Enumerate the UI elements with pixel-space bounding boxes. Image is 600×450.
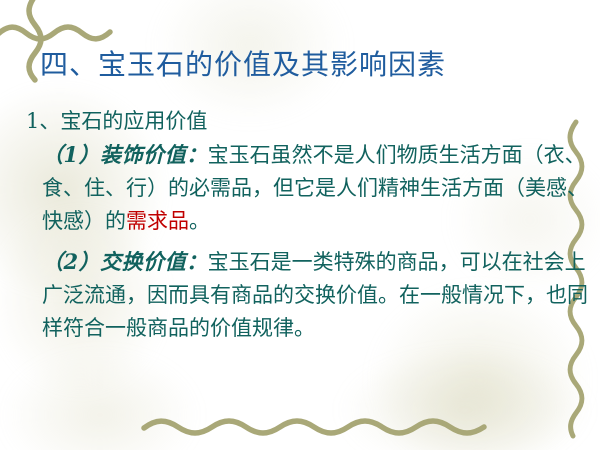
- bullet-1-text-tail: 。: [189, 209, 210, 233]
- slide-canvas: 四、宝玉石的价值及其影响因素 1、宝石的应用价值 （1）装饰价值：宝玉石虽然不是…: [0, 0, 600, 450]
- background-wash-bottom-right: [300, 330, 600, 450]
- slide-body: 1、宝石的应用价值 （1）装饰价值：宝玉石虽然不是人们物质生活方面（衣、食、住、…: [16, 106, 596, 345]
- background-wash-bottom-left: [0, 330, 230, 450]
- bullet-1-lead: 装饰价值：: [100, 142, 208, 167]
- bullet-item-2: （2）交换价值：宝玉石是一类特殊的商品，可以在社会上广泛流通，因而具有商品的交换…: [16, 245, 596, 345]
- bullet-2-marker: （2）: [42, 249, 100, 274]
- bullet-item-1: （1）装饰价值：宝玉石虽然不是人们物质生活方面（衣、食、住、行）的必需品，但它是…: [16, 138, 596, 238]
- slide-title: 四、宝玉石的价值及其影响因素: [40, 48, 580, 82]
- bullet-1-marker: （1）: [42, 142, 100, 167]
- bullet-1-highlight: 需求品: [126, 209, 189, 233]
- bullet-2-lead: 交换价值：: [100, 249, 208, 274]
- bottom-horizontal-wave-ornament: [140, 404, 580, 450]
- body-heading: 1、宝石的应用价值: [16, 106, 596, 136]
